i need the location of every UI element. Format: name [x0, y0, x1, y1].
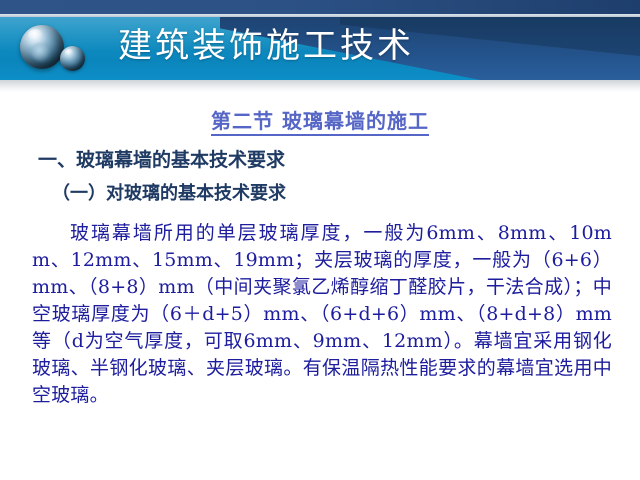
section-heading: 第二节 玻璃幕墙的施工	[0, 108, 640, 134]
body-paragraph: 玻璃幕墙所用的单层玻璃厚度，一般为6mm、8mm、10mm、12mm、15mm、…	[32, 220, 612, 409]
slide-header: 建筑装饰施工技术	[0, 0, 640, 92]
page-title: 建筑装饰施工技术	[118, 23, 414, 69]
slide-body: 第二节 玻璃幕墙的施工 一、玻璃幕墙的基本技术要求 （一）对玻璃的基本技术要求 …	[0, 96, 640, 480]
section-heading-text: 第二节 玻璃幕墙的施工	[211, 109, 429, 136]
header-bottom-fade	[0, 80, 640, 92]
presentation-slide: 建筑装饰施工技术 第二节 玻璃幕墙的施工 一、玻璃幕墙的基本技术要求 （一）对玻…	[0, 0, 640, 480]
chrome-sphere-logo-icon	[18, 24, 106, 80]
logo-small-sphere-highlight	[65, 49, 73, 55]
header-top-strip	[0, 0, 640, 14]
heading-level-2: （一）对玻璃的基本技术要求	[52, 182, 286, 206]
logo-large-sphere-highlight	[28, 29, 43, 40]
heading-level-1: 一、玻璃幕墙的基本技术要求	[38, 148, 285, 173]
